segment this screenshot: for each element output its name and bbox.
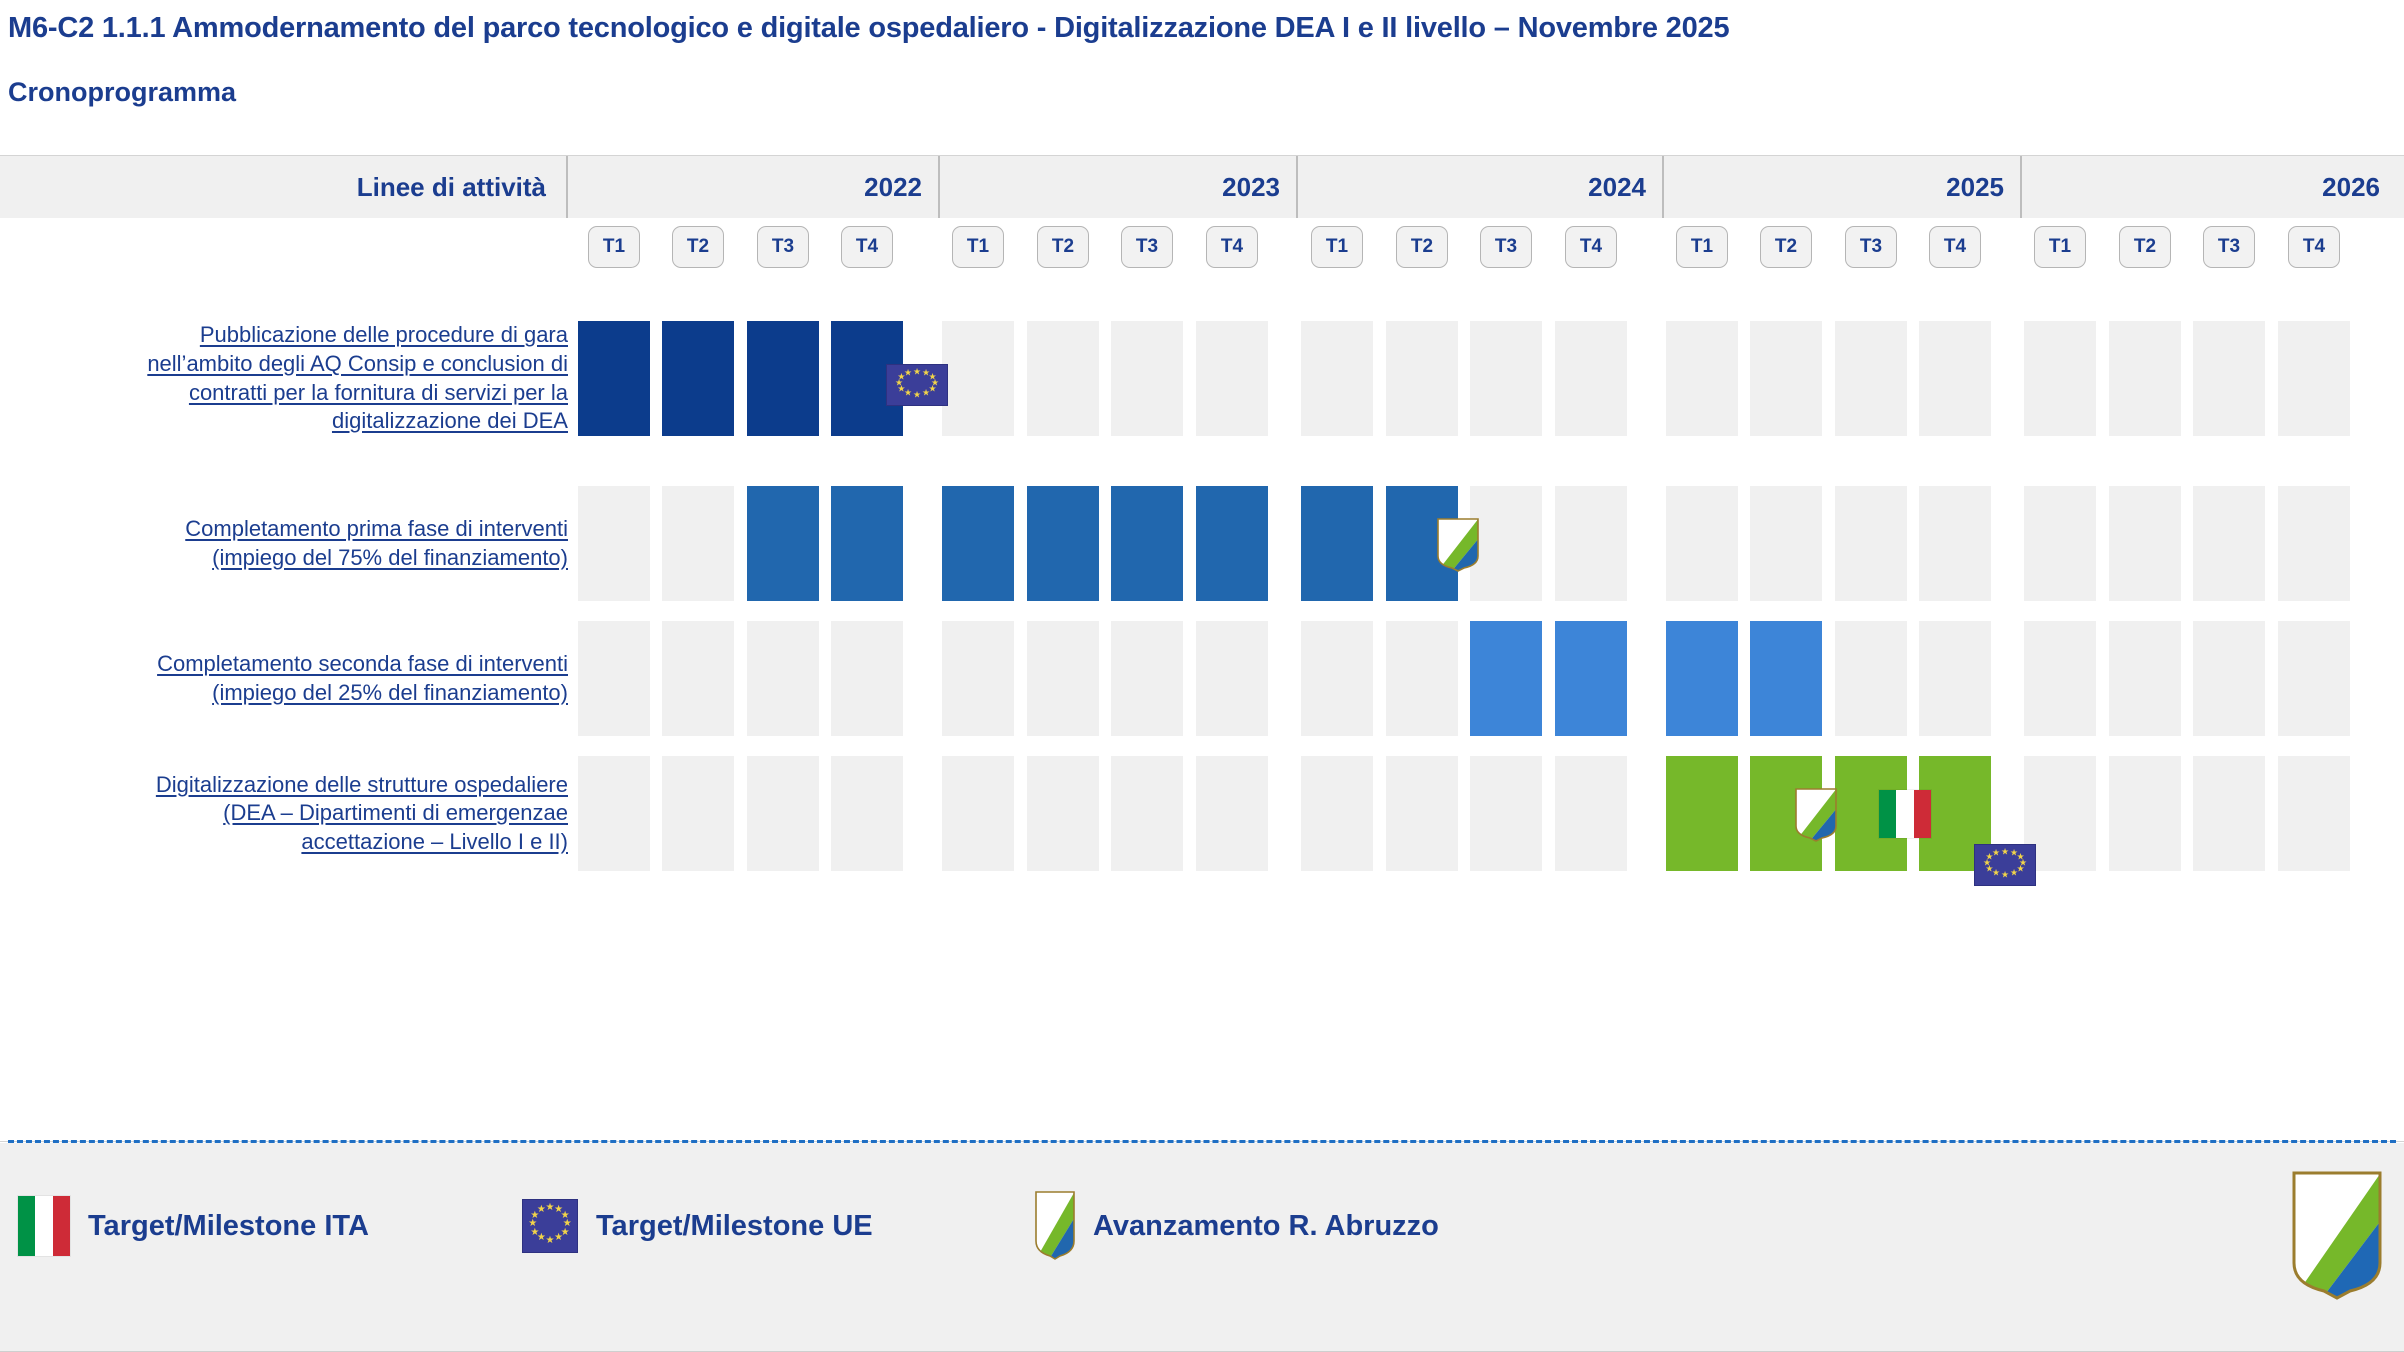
gantt-cell-2026-t3[interactable] [2193,621,2265,736]
year-header-2026: 2026 [2022,156,2396,218]
gantt-cell-2025-t3[interactable] [1835,621,1907,736]
row-label-line: Completamento prima fase di interventi [185,515,568,544]
abruzzo-shield-icon[interactable] [1795,788,1837,842]
legend-label: Target/Milestone UE [596,1210,873,1243]
abruzzo-shield-icon [1035,1191,1075,1261]
gantt-row: Digitalizzazione delle strutture ospedal… [0,746,2404,881]
gantt-cell-2026-t2[interactable] [2109,621,2181,736]
row-label-3: Completamento seconda fase di interventi… [0,611,568,746]
abruzzo-coat-of-arms [2292,1171,2382,1306]
gantt-bar-2023-t3[interactable] [1111,486,1183,601]
gantt-cell-2026-t4[interactable] [2278,621,2350,736]
quarter-chip-2023-t1[interactable]: T1 [952,226,1004,268]
row-label-2: Completamento prima fase di interventi (… [0,476,568,611]
gantt-cell-2024-t2[interactable] [1386,621,1458,736]
gantt-cell-2023-t1[interactable] [942,756,1014,871]
abruzzo-coat-of-arms-svg [2292,1171,2382,1301]
quarter-label: T1 [967,236,989,258]
quarter-label: T1 [1326,236,1348,258]
gantt-cell-2026-t1[interactable] [2024,486,2096,601]
year-label: 2025 [1946,172,2004,203]
gantt-cell-2022-t4[interactable] [831,756,903,871]
gantt-cell-2023-t3[interactable] [1111,621,1183,736]
gantt-cell-2024-t4[interactable] [1555,486,1627,601]
gantt-cell-2022-t2[interactable] [662,621,734,736]
quarter-chip-2026-t1[interactable]: T1 [2034,226,2086,268]
gantt-cell-2026-t4[interactable] [2278,486,2350,601]
quarter-chip-2024-t1[interactable]: T1 [1311,226,1363,268]
gantt-cell-2023-t1[interactable] [942,621,1014,736]
quarter-chip-2022-t1[interactable]: T1 [588,226,640,268]
quarter-chip-2026-t2[interactable]: T2 [2119,226,2171,268]
gantt-cell-2026-t4[interactable] [2278,756,2350,871]
quarter-label: T2 [1775,236,1797,258]
gantt-cell-2026-t2[interactable] [2109,756,2181,871]
row-label-1: Pubblicazione delle procedure di gara ne… [0,311,568,446]
gantt-cell-2023-t3[interactable] [1111,321,1183,436]
gantt-cell-2022-t2[interactable] [662,756,734,871]
gantt-cell-2024-t4[interactable] [1555,321,1627,436]
gantt-cell-2025-t4[interactable] [1919,486,1991,601]
legend-item-ita: Target/Milestone ITA [18,1196,369,1256]
gantt-cell-2026-t1[interactable] [2024,321,2096,436]
gantt-cell-2026-t3[interactable] [2193,756,2265,871]
gantt-cell-2022-t3[interactable] [747,621,819,736]
gantt-bar-2024-t1[interactable] [1301,486,1373,601]
gantt-cell-2023-t3[interactable] [1111,756,1183,871]
quarter-label: T1 [2049,236,2071,258]
gantt-chart: Linee di attività 2022 2023 2024 2025 20… [0,155,2404,1142]
gantt-cell-2026-t3[interactable] [2193,321,2265,436]
quarter-label: T4 [2303,236,2325,258]
row-label-line: (impiego del 75% del finanziamento) [185,544,568,573]
quarter-label: T4 [1944,236,1966,258]
gantt-cell-2025-t1[interactable] [1666,321,1738,436]
row-label-4: Digitalizzazione delle strutture ospedal… [0,746,568,881]
legend: Target/Milestone ITA ★ ★ ★ ★ ★ ★ ★ ★ ★ ★… [0,1143,2404,1352]
quarter-chip-2025-t4[interactable]: T4 [1929,226,1981,268]
quarter-chip-2025-t3[interactable]: T3 [1845,226,1897,268]
gantt-bar-2023-t4[interactable] [1196,486,1268,601]
gantt-cell-2022-t4[interactable] [831,621,903,736]
gantt-cell-2026-t2[interactable] [2109,321,2181,436]
quarter-label: T2 [2134,236,2156,258]
gantt-cell-2024-t1[interactable] [1301,756,1373,871]
gantt-cell-2025-t3[interactable] [1835,321,1907,436]
gantt-bar-2022-t1[interactable] [578,321,650,436]
italy-flag-icon [18,1196,70,1256]
quarter-label: T2 [1052,236,1074,258]
quarter-label: T3 [772,236,794,258]
year-label: 2022 [864,172,922,203]
quarter-label: T3 [1136,236,1158,258]
gantt-cell-2024-t1[interactable] [1301,621,1373,736]
quarter-label: T1 [1691,236,1713,258]
quarter-chip-2024-t4[interactable]: T4 [1565,226,1617,268]
gantt-cell-2023-t2[interactable] [1027,756,1099,871]
gantt-cell-2024-t1[interactable] [1301,321,1373,436]
quarter-label: T3 [1860,236,1882,258]
eu-flag-icon[interactable]: ★ ★ ★ ★ ★ ★ ★ ★ ★ ★ ★ ★ [1974,844,2036,886]
eu-flag-icon[interactable]: ★ ★ ★ ★ ★ ★ ★ ★ ★ ★ ★ ★ [886,364,948,406]
legend-item-abruzzo: Avanzamento R. Abruzzo [1035,1191,1439,1261]
gantt-cell-2024-t3[interactable] [1470,486,1542,601]
abruzzo-shield-svg [1795,788,1837,842]
gantt-cell-2022-t3[interactable] [747,756,819,871]
gantt-cell-2022-t1[interactable] [578,756,650,871]
italy-flag-icon[interactable] [1879,790,1931,838]
quarter-label: T4 [856,236,878,258]
gantt-bar-2024-t3[interactable] [1470,621,1542,736]
row-label-line: contratti per la fornitura di servizi pe… [147,379,568,408]
page-title: M6-C2 1.1.1 Ammodernamento del parco tec… [8,12,2404,45]
row-label-line: Digitalizzazione delle strutture ospedal… [156,771,568,800]
gantt-cell-2026-t1[interactable] [2024,621,2096,736]
page-subtitle: Cronoprogramma [8,77,2404,108]
gantt-bar-2025-t1[interactable] [1666,756,1738,871]
gantt-cell-2025-t2[interactable] [1750,321,1822,436]
activities-column-header: Linee di attività [0,156,568,218]
gantt-bar-2022-t4[interactable] [831,486,903,601]
gantt-cell-2023-t2[interactable] [1027,621,1099,736]
gantt-cell-2026-t4[interactable] [2278,321,2350,436]
quarter-label: T4 [1580,236,1602,258]
year-header-2025: 2025 [1664,156,2022,218]
gantt-cell-2024-t2[interactable] [1386,756,1458,871]
year-header-2023: 2023 [940,156,1298,218]
gantt-cell-2025-t4[interactable] [1919,321,1991,436]
gantt-cell-2024-t3[interactable] [1470,756,1542,871]
gantt-cell-2022-t2[interactable] [662,486,734,601]
quarter-chip-2024-t3[interactable]: T3 [1480,226,1532,268]
year-header-2022: 2022 [568,156,940,218]
year-header-2024: 2024 [1298,156,1664,218]
quarter-chip-2023-t4[interactable]: T4 [1206,226,1258,268]
gantt-bar-2022-t3[interactable] [747,486,819,601]
row-label-line: accettazione – Livello I e II) [156,828,568,857]
row-label-line: nell’ambito degli AQ Consip e conclusion… [147,350,568,379]
gantt-cell-2023-t2[interactable] [1027,321,1099,436]
abruzzo-shield-svg [1035,1191,1075,1261]
quarter-chip-2025-t1[interactable]: T1 [1676,226,1728,268]
gantt-cell-2023-t4[interactable] [1196,621,1268,736]
gantt-cell-2025-t4[interactable] [1919,621,1991,736]
gantt-cell-2022-t1[interactable] [578,621,650,736]
gantt-cell-2023-t4[interactable] [1196,321,1268,436]
quarter-header-band: T1 T2 T3 T4 T1 T2 T3 T4 T1 T2 T3 T4 T1 T… [0,218,2404,276]
quarter-label: T1 [603,236,625,258]
gantt-bar-2025-t1[interactable] [1666,621,1738,736]
gantt-bar-2022-t2[interactable] [662,321,734,436]
legend-label: Avanzamento R. Abruzzo [1093,1210,1439,1243]
gantt-bar-2022-t3[interactable] [747,321,819,436]
title-block: M6-C2 1.1.1 Ammodernamento del parco tec… [0,0,2404,108]
gantt-bar-2023-t1[interactable] [942,486,1014,601]
gantt-cell-2025-t1[interactable] [1666,486,1738,601]
gantt-cell-2022-t1[interactable] [578,486,650,601]
quarter-chip-2022-t3[interactable]: T3 [757,226,809,268]
year-label: 2026 [2322,172,2380,203]
legend-item-ue: ★ ★ ★ ★ ★ ★ ★ ★ ★ ★ ★ ★ Target/Milestone… [522,1199,873,1253]
row-label-line: Completamento seconda fase di interventi [157,650,568,679]
row-label-line: Pubblicazione delle procedure di gara [147,321,568,350]
gantt-cell-2025-t3[interactable] [1835,486,1907,601]
gantt-bar-2024-t4[interactable] [1555,621,1627,736]
quarter-label: T4 [1221,236,1243,258]
gantt-bar-2023-t2[interactable] [1027,486,1099,601]
abruzzo-shield-svg [1437,518,1479,572]
quarter-chip-2024-t2[interactable]: T2 [1396,226,1448,268]
gantt-bar-2025-t2[interactable] [1750,621,1822,736]
quarter-chip-2023-t3[interactable]: T3 [1121,226,1173,268]
activities-column-label: Linee di attività [357,172,546,203]
abruzzo-shield-icon[interactable] [1437,518,1479,572]
gantt-cell-2023-t4[interactable] [1196,756,1268,871]
quarter-chip-2026-t4[interactable]: T4 [2288,226,2340,268]
quarter-chip-2025-t2[interactable]: T2 [1760,226,1812,268]
quarter-label: T3 [2218,236,2240,258]
gantt-cell-2026-t3[interactable] [2193,486,2265,601]
gantt-row: Pubblicazione delle procedure di gara ne… [0,311,2404,446]
row-label-line: (impiego del 25% del finanziamento) [157,679,568,708]
quarter-label: T2 [687,236,709,258]
gantt-cell-2025-t2[interactable] [1750,486,1822,601]
gantt-row: Completamento seconda fase di interventi… [0,611,2404,746]
quarter-chip-2023-t2[interactable]: T2 [1037,226,1089,268]
year-header-band: Linee di attività 2022 2023 2024 2025 20… [0,156,2404,219]
gantt-row: Completamento prima fase di interventi (… [0,476,2404,611]
row-label-line: digitalizzazione dei DEA [147,407,568,436]
quarter-chip-2026-t3[interactable]: T3 [2203,226,2255,268]
quarter-chip-2022-t2[interactable]: T2 [672,226,724,268]
legend-label: Target/Milestone ITA [88,1210,369,1243]
year-label: 2024 [1588,172,1646,203]
quarter-label: T2 [1411,236,1433,258]
quarter-chip-2022-t4[interactable]: T4 [841,226,893,268]
gantt-cell-2024-t2[interactable] [1386,321,1458,436]
gantt-cell-2024-t4[interactable] [1555,756,1627,871]
year-label: 2023 [1222,172,1280,203]
gantt-cell-2023-t1[interactable] [942,321,1014,436]
gantt-cell-2024-t3[interactable] [1470,321,1542,436]
gantt-cell-2026-t2[interactable] [2109,486,2181,601]
eu-flag-icon: ★ ★ ★ ★ ★ ★ ★ ★ ★ ★ ★ ★ [522,1199,578,1253]
quarter-label: T3 [1495,236,1517,258]
row-label-line: (DEA – Dipartimenti di emergenzae [156,799,568,828]
